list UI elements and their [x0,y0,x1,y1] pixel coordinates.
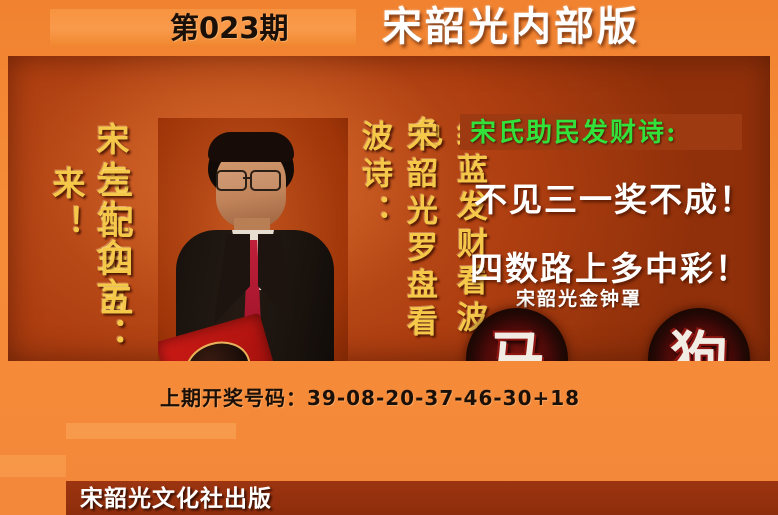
decorative-band-upper [66,423,236,439]
publisher-label: 宋韶光文化社出版 [80,484,272,514]
main-panel: 宋先生金言： 三配四五来！ 红蓝发财看波色 宋韶光 [8,56,770,361]
poem-line-1: 不见三一奖不成！ [474,173,754,221]
vertical-text-compass-poem: 宋韶光罗盘看波诗： [352,120,442,361]
zodiac-glyph-dog: 狗 [670,330,728,361]
vertical-text-lucky-numbers: 三配四五来！ [42,166,138,361]
page-title: 宋韶光内部版 [382,2,640,52]
zodiac-glyph-horse: 马 [488,330,546,361]
golden-bell-subtitle: 宋韶光金钟罩 [516,284,642,311]
issue-number-label: 第023期 [170,10,330,46]
poem-heading: 宋氏助民发财诗: [470,116,678,150]
poem-line-2: 四数路上多中彩！ [470,242,750,290]
decorative-band-lower [0,455,66,477]
glasses-right-lens-icon [250,170,281,191]
lottery-poster: 第023期 宋韶光内部版 宋先生金言： 三配四五来！ [0,0,778,515]
portrait-hair-front [208,132,294,162]
last-draw-numbers: 上期开奖号码：39-08-20-37-46-30+18 [160,382,580,411]
zodiac-circle-dog: 狗 [648,308,750,361]
header: 第023期 宋韶光内部版 [0,0,778,56]
glasses-left-lens-icon [216,170,247,191]
master-portrait-photo [158,118,348,361]
compass-disc [179,334,257,361]
glasses-bridge-icon [243,177,252,179]
